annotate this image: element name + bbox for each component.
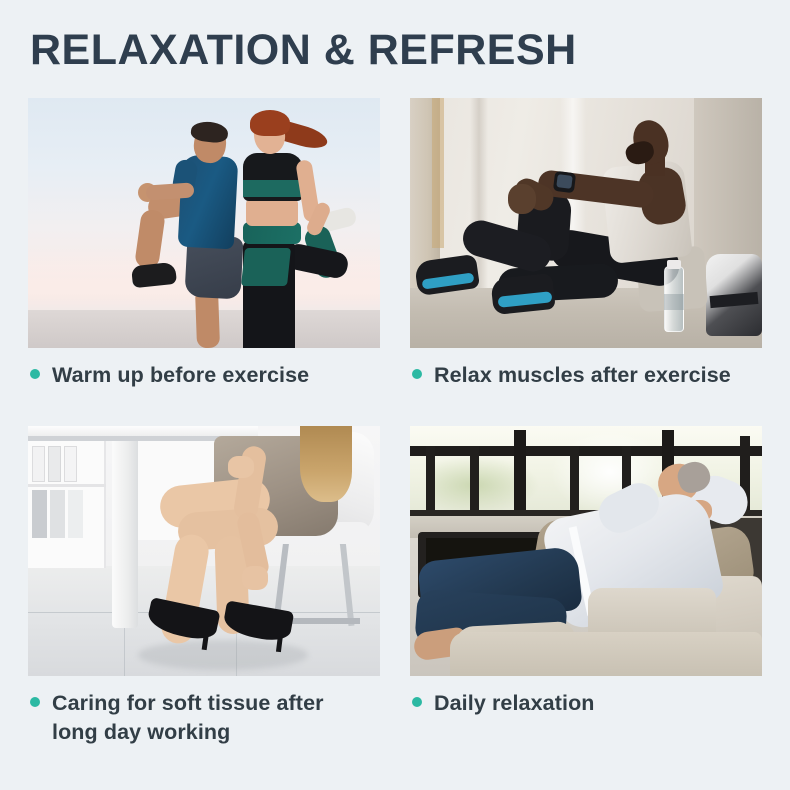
- wristwatch-face: [556, 174, 572, 189]
- window-frame-horizontal: [410, 446, 762, 456]
- water-bottle-label: [664, 294, 684, 310]
- caption-text: Daily relaxation: [434, 689, 595, 718]
- binder: [64, 446, 77, 482]
- page-title: RELAXATION & REFRESH: [30, 25, 577, 75]
- window-mullion: [514, 430, 526, 518]
- woman-sports-bra-band: [243, 180, 303, 197]
- water-bottle-cap: [667, 260, 681, 269]
- floor-reflection: [138, 640, 308, 670]
- window-mullion: [570, 446, 579, 518]
- woman-leggings-stripe: [241, 248, 291, 286]
- card-relax-muscles[interactable]: Relax muscles after exercise: [410, 98, 762, 390]
- man-hand: [508, 184, 536, 214]
- photo-soft-tissue-care: [28, 426, 380, 676]
- caption-warm-up: Warm up before exercise: [28, 361, 380, 390]
- woman-midriff: [246, 198, 298, 226]
- card-grid: Warm up before exercise: [28, 98, 762, 747]
- binder: [68, 490, 83, 538]
- woman-hand: [228, 456, 254, 478]
- wall-pillar-accent: [432, 98, 444, 248]
- caption-text: Relax muscles after exercise: [434, 361, 731, 390]
- binder: [50, 490, 65, 538]
- bullet-dot-icon: [30, 697, 40, 707]
- bullet-dot-icon: [412, 369, 422, 379]
- binder: [32, 446, 45, 482]
- caption-soft-tissue-care: Caring for soft tissue after long day wo…: [28, 689, 380, 747]
- window-mullion: [470, 446, 479, 518]
- photo-warm-up: [28, 98, 380, 348]
- bullet-dot-icon: [412, 697, 422, 707]
- caption-daily-relaxation: Daily relaxation: [410, 689, 762, 718]
- photo-relax-muscles: [410, 98, 762, 348]
- sofa-seat: [450, 632, 762, 676]
- binder: [32, 490, 47, 538]
- desk-leg: [112, 438, 138, 628]
- woman-hair: [250, 110, 290, 136]
- photo-daily-relaxation: [410, 426, 762, 676]
- window-mullion: [426, 446, 435, 518]
- caption-relax-muscles: Relax muscles after exercise: [410, 361, 762, 390]
- binder: [48, 446, 61, 482]
- card-daily-relaxation[interactable]: Daily relaxation: [410, 426, 762, 747]
- shelf-divider: [28, 484, 106, 487]
- woman-hand-on-ankle: [242, 566, 268, 590]
- card-warm-up[interactable]: Warm up before exercise: [28, 98, 380, 390]
- caption-text: Warm up before exercise: [52, 361, 309, 390]
- man-shoe: [131, 262, 177, 288]
- card-soft-tissue-care[interactable]: Caring for soft tissue after long day wo…: [28, 426, 380, 747]
- woman-hair: [300, 426, 352, 502]
- poster-root: RELAXATION & REFRESH: [0, 0, 790, 790]
- caption-text: Caring for soft tissue after long day wo…: [52, 689, 362, 747]
- bullet-dot-icon: [30, 369, 40, 379]
